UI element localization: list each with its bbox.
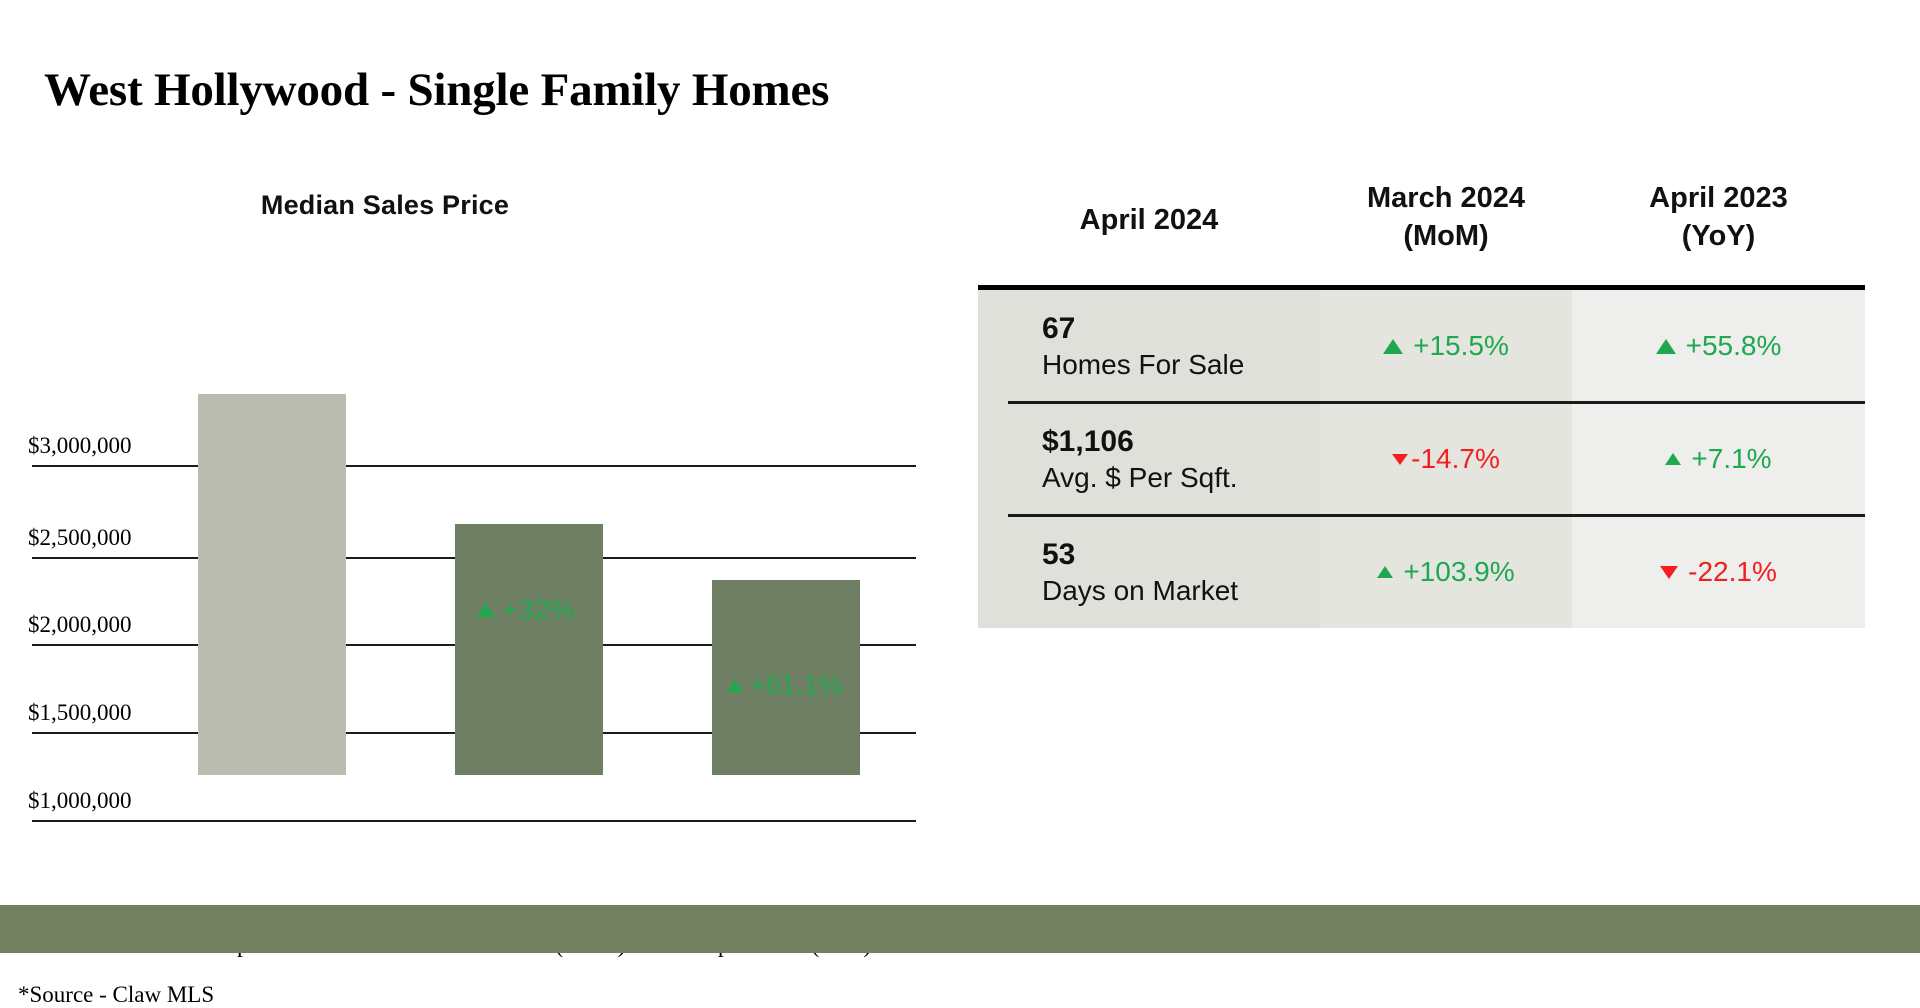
metric-cell: 67 Homes For Sale (978, 290, 1320, 402)
triangle-down-icon (1660, 566, 1678, 579)
mom-change-cell: -14.7% (1320, 403, 1572, 515)
stats-table: April 2024 March 2024 (MoM) April 2023 (… (978, 175, 1865, 285)
triangle-up-icon (1377, 566, 1393, 578)
triangle-up-icon (727, 680, 743, 692)
metric-value: $1,106 (1042, 423, 1134, 461)
bar-annotation-yoy-label: +61.1% (750, 670, 842, 701)
source-note: *Source - Claw MLS (18, 982, 214, 1008)
metric-cell: 53 Days on Market (978, 516, 1320, 628)
triangle-up-icon (477, 603, 495, 617)
yoy-change-value: +7.1% (1691, 443, 1771, 475)
column-header-april-2023-line2: (YoY) (1572, 217, 1865, 255)
bar-annotation-mom-label: +32% (502, 594, 574, 626)
mom-change-value: +15.5% (1413, 330, 1509, 362)
triangle-up-icon (1383, 339, 1403, 354)
y-tick-label: $2,500,000 (28, 525, 132, 551)
y-tick-label: $3,000,000 (28, 433, 132, 459)
mom-change-cell: +15.5% (1320, 290, 1572, 402)
yoy-change-cell: +55.8% (1572, 290, 1865, 402)
mom-change-value: -14.7% (1411, 443, 1500, 475)
page-title: West Hollywood - Single Family Homes (44, 63, 829, 117)
column-header-march-2024-mom: March 2024 (MoM) (1320, 179, 1572, 256)
column-header-march-2024-line2: (MoM) (1320, 217, 1572, 255)
metric-cell: $1,106 Avg. $ Per Sqft. (978, 403, 1320, 515)
triangle-down-icon (1392, 454, 1408, 465)
triangle-up-icon (1656, 339, 1676, 354)
metric-name: Days on Market (1042, 573, 1238, 608)
stats-table-header-row: April 2024 March 2024 (MoM) April 2023 (… (978, 175, 1865, 285)
yoy-change-cell: -22.1% (1572, 516, 1865, 628)
stats-table-body: 67 Homes For Sale +15.5% +55.8% $1,106 A… (978, 290, 1865, 628)
y-tick-label: $1,500,000 (28, 700, 132, 726)
bar-april-2024 (198, 394, 346, 775)
metric-name: Avg. $ Per Sqft. (1042, 460, 1238, 495)
mom-change-value: +103.9% (1403, 556, 1514, 588)
metric-value: 67 (1042, 310, 1075, 348)
bar-annotation-mom: +32% (477, 594, 574, 626)
table-row: 53 Days on Market +103.9% -22.1% (978, 516, 1865, 628)
median-sales-price-chart: Median Sales Price $3,000,000 $2,500,000… (0, 170, 950, 860)
yoy-change-value: -22.1% (1688, 556, 1777, 588)
triangle-up-icon (1665, 453, 1681, 465)
table-row: $1,106 Avg. $ Per Sqft. -14.7% +7.1% (978, 403, 1865, 515)
table-row: 67 Homes For Sale +15.5% +55.8% (978, 290, 1865, 402)
column-header-april-2024: April 2024 (978, 201, 1320, 239)
bar-march-2024-mom (455, 524, 603, 775)
gridline (32, 820, 916, 822)
gridline (32, 465, 916, 467)
chart-plot-area: $3,000,000 $2,500,000 $2,000,000 $1,500,… (0, 170, 950, 860)
yoy-change-value: +55.8% (1686, 330, 1782, 362)
metric-value: 53 (1042, 536, 1075, 574)
column-header-march-2024-line1: March 2024 (1320, 179, 1572, 217)
metric-name: Homes For Sale (1042, 347, 1244, 382)
y-tick-label: $1,000,000 (28, 788, 132, 814)
footer-band (0, 905, 1920, 953)
column-header-april-2023-line1: April 2023 (1572, 179, 1865, 217)
y-tick-label: $2,000,000 (28, 612, 132, 638)
mom-change-cell: +103.9% (1320, 516, 1572, 628)
column-header-april-2023-yoy: April 2023 (YoY) (1572, 179, 1865, 256)
bar-annotation-yoy: +61.1% (727, 670, 842, 701)
yoy-change-cell: +7.1% (1572, 403, 1865, 515)
